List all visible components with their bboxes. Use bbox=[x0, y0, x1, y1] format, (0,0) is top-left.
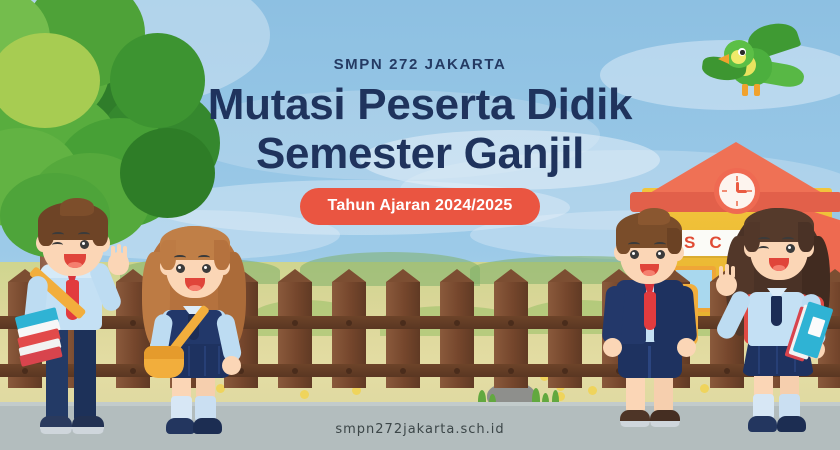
website-url: smpn272jakarta.sch.id bbox=[0, 422, 840, 437]
character-boy-left bbox=[16, 196, 136, 450]
academic-year-badge-wrap: Tahun Ajaran 2024/2025 bbox=[0, 188, 840, 225]
character-boy-right bbox=[596, 206, 704, 450]
character-girl-left bbox=[136, 218, 252, 450]
school-banner: S C bbox=[0, 0, 840, 450]
academic-year-badge: Tahun Ajaran 2024/2025 bbox=[300, 188, 541, 225]
character-girl-right bbox=[718, 198, 832, 450]
title-line-2: Semester Ganjil bbox=[0, 129, 840, 178]
title-line-1: Mutasi Peserta Didik bbox=[0, 80, 840, 129]
page-title: Mutasi Peserta Didik Semester Ganjil bbox=[0, 80, 840, 179]
eyebrow-text: SMPN 272 JAKARTA bbox=[0, 56, 840, 73]
